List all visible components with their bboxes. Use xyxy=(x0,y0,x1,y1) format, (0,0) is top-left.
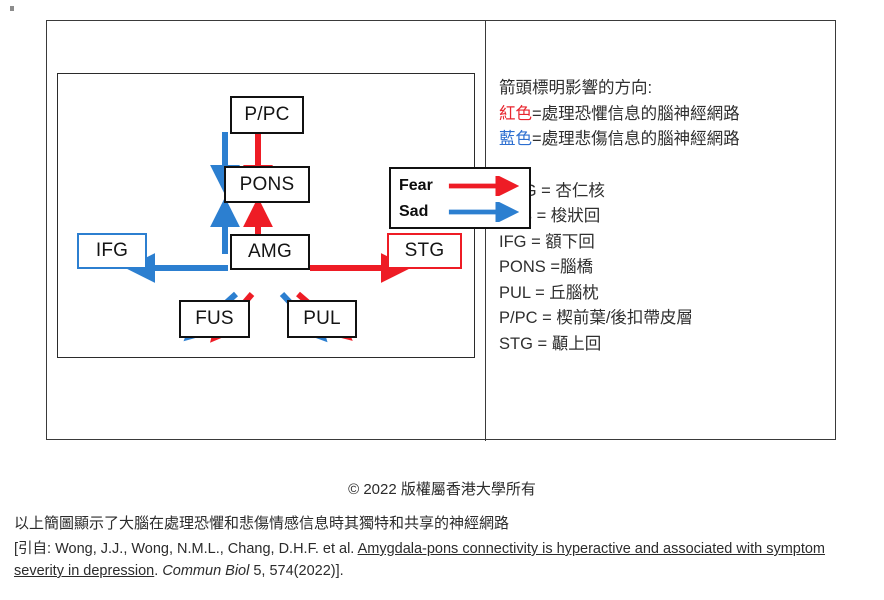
node-ifg-label: IFG xyxy=(96,240,128,262)
key-red-rest: =處理恐懼信息的腦神經網路 xyxy=(532,105,740,123)
node-ifg[interactable]: IFG xyxy=(77,233,147,269)
diagram-legend: Fear Sad xyxy=(389,167,531,229)
figure-frame: P/PC PONS AMG IFG STG FUS PUL Fear xyxy=(46,20,836,440)
node-pons[interactable]: PONS xyxy=(224,166,310,203)
key-red-word: 紅色 xyxy=(499,105,532,123)
citation-journal: Commun Biol xyxy=(162,563,249,579)
key-spacer xyxy=(499,153,829,179)
figure-divider xyxy=(485,21,486,441)
node-pul[interactable]: PUL xyxy=(287,300,357,338)
key-abbr-ifg: IFG = 額下回 xyxy=(499,230,829,256)
brain-network-diagram: P/PC PONS AMG IFG STG FUS PUL Fear xyxy=(57,73,475,358)
figure-citation: [引自: Wong, J.J., Wong, N.M.L., Chang, D.… xyxy=(14,538,874,582)
node-fus[interactable]: FUS xyxy=(179,300,250,338)
node-stg-label: STG xyxy=(405,240,445,262)
key-abbr-pul: PUL = 丘腦枕 xyxy=(499,281,829,307)
key-heading: 箭頭標明影響的方向: xyxy=(499,76,829,102)
citation-tail: 5, 574(2022)]. xyxy=(249,563,343,579)
node-ppc[interactable]: P/PC xyxy=(230,96,304,134)
legend-sad-arrow-icon xyxy=(447,202,523,222)
legend-row-sad: Sad xyxy=(399,199,523,225)
key-abbr-ppc: P/PC = 楔前葉/後扣帶皮層 xyxy=(499,306,829,332)
legend-fear-arrow-icon xyxy=(447,176,523,196)
key-blue-word: 藍色 xyxy=(499,130,532,148)
node-pul-label: PUL xyxy=(303,308,341,330)
key-abbr-stg: STG = 顳上回 xyxy=(499,332,829,358)
key-blue-line: 藍色=處理悲傷信息的腦神經網路 xyxy=(499,127,829,153)
key-red-line: 紅色=處理恐懼信息的腦神經網路 xyxy=(499,102,829,128)
node-stg[interactable]: STG xyxy=(387,233,462,269)
key-abbr-pons: PONS =腦橋 xyxy=(499,255,829,281)
legend-row-fear: Fear xyxy=(399,173,523,199)
node-fus-label: FUS xyxy=(195,308,234,330)
diagram-key-panel: 箭頭標明影響的方向: 紅色=處理恐懼信息的腦神經網路 藍色=處理悲傷信息的腦神經… xyxy=(499,76,829,357)
node-amg-label: AMG xyxy=(248,241,292,263)
copyright-line: © 2022 版權屬香港大學所有 xyxy=(0,478,884,499)
legend-fear-label: Fear xyxy=(399,177,447,195)
key-abbr-amg: AMG = 杏仁核 xyxy=(499,179,829,205)
node-pons-label: PONS xyxy=(240,174,295,196)
key-blue-rest: =處理悲傷信息的腦神經網路 xyxy=(532,130,740,148)
figure-description: 以上簡圖顯示了大腦在處理恐懼和悲傷情感信息時其獨特和共享的神經網路 xyxy=(14,512,509,533)
stray-mark xyxy=(10,6,14,11)
citation-prefix: [引自: Wong, J.J., Wong, N.M.L., Chang, D.… xyxy=(14,541,358,557)
legend-sad-label: Sad xyxy=(399,203,447,221)
node-amg[interactable]: AMG xyxy=(230,234,310,270)
node-ppc-label: P/PC xyxy=(244,104,289,126)
key-abbr-fus: FUS = 梭狀回 xyxy=(499,204,829,230)
